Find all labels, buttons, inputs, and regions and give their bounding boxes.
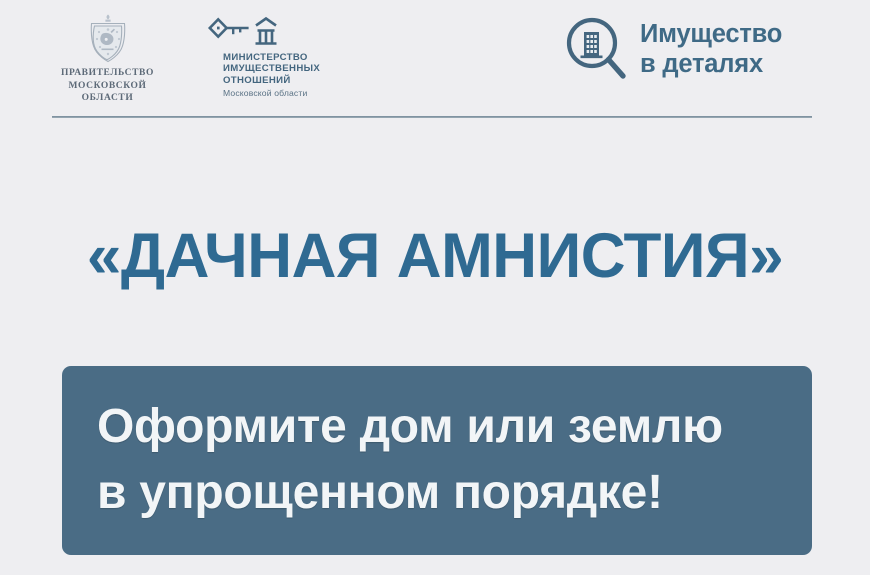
- ministry-line-2: ИМУЩЕСТВЕННЫХ: [223, 63, 365, 74]
- coat-of-arms-icon: [85, 12, 131, 64]
- ministry-line-1: МИНИСТЕРСТВО: [223, 52, 365, 63]
- ministry-logo-text: МИНИСТЕРСТВО ИМУЩЕСТВЕННЫХ ОТНОШЕНИЙ Мос…: [223, 52, 365, 99]
- callout-banner: Оформите дом или землю в упрощенном поря…: [62, 366, 812, 555]
- ministry-logo: МИНИСТЕРСТВО ИМУЩЕСТВЕННЫХ ОТНОШЕНИЙ Мос…: [205, 14, 365, 99]
- page-header: ПРАВИТЕЛЬСТВО МОСКОВСКОЙ ОБЛАСТИ: [0, 0, 870, 118]
- ministry-line-4: Московской области: [223, 87, 365, 99]
- header-divider: [52, 116, 812, 118]
- magnifier-with-building-icon: [565, 16, 627, 82]
- banner-line-2: в упрощенном порядке!: [97, 460, 782, 526]
- brand-line-1: Имущество: [640, 19, 782, 49]
- key-and-building-icon: [205, 14, 293, 48]
- brand-logo: Имущество в деталях: [565, 16, 782, 82]
- brand-logo-text: Имущество в деталях: [640, 19, 782, 79]
- gov-line-3: ОБЛАСТИ: [45, 92, 170, 105]
- government-logo: ПРАВИТЕЛЬСТВО МОСКОВСКОЙ ОБЛАСТИ: [45, 12, 170, 105]
- gov-line-2: МОСКОВСКОЙ: [45, 80, 170, 93]
- government-logo-text: ПРАВИТЕЛЬСТВО МОСКОВСКОЙ ОБЛАСТИ: [45, 67, 170, 105]
- ministry-line-3: ОТНОШЕНИЙ: [223, 75, 365, 86]
- banner-line-1: Оформите дом или землю: [97, 394, 782, 460]
- page-title: «ДАЧНАЯ АМНИСТИЯ»: [7, 220, 864, 292]
- gov-line-1: ПРАВИТЕЛЬСТВО: [45, 67, 170, 80]
- brand-line-2: в деталях: [640, 49, 782, 79]
